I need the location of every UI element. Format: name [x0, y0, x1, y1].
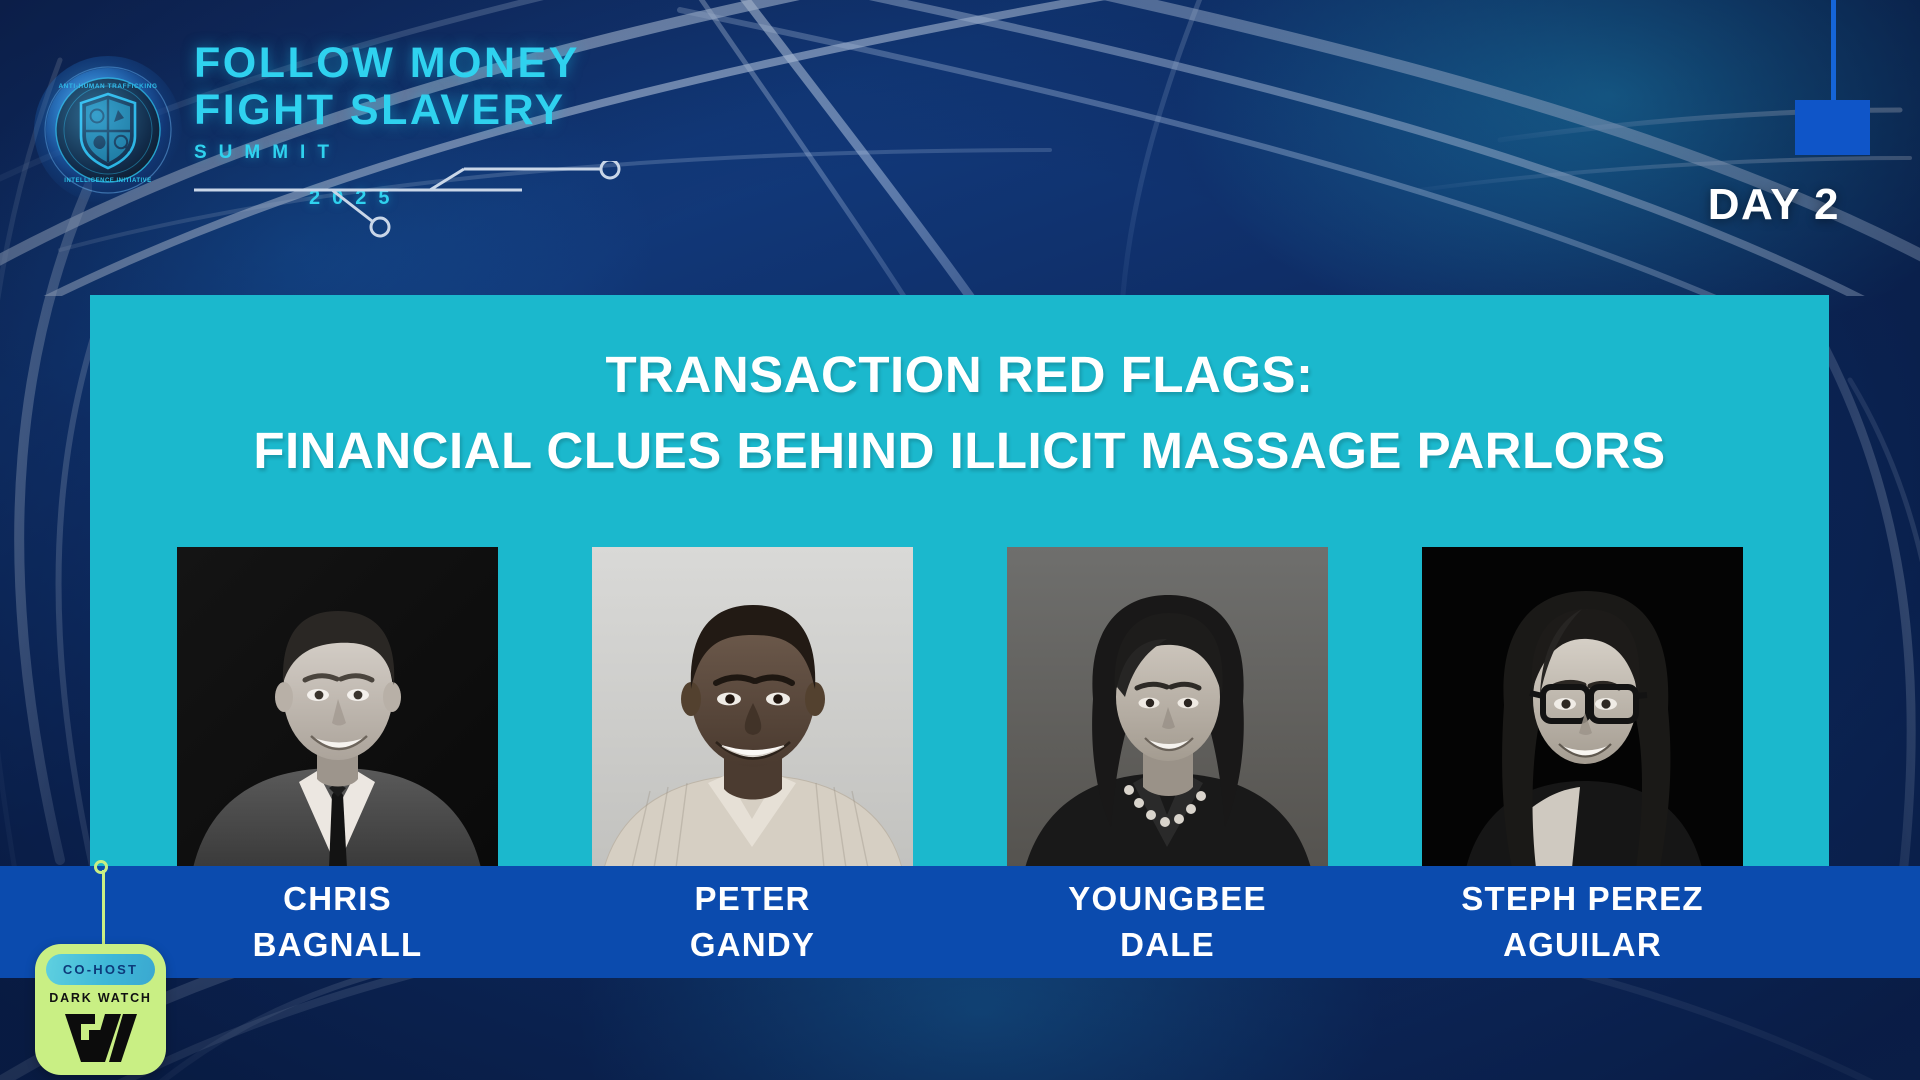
- speaker-first-name-4: STEPH PEREZ: [1422, 876, 1743, 922]
- speaker-name-bar: CHRIS BAGNALL PETER GANDY YOUNGBEE DALE …: [0, 866, 1920, 978]
- steph-perez-aguilar-photo: [1422, 547, 1743, 868]
- logo-timeline-decoration: [192, 161, 632, 239]
- logo-line-fight-slavery: FIGHT SLAVERY: [194, 87, 654, 134]
- speaker-name-row: CHRIS BAGNALL PETER GANDY YOUNGBEE DALE …: [0, 866, 1920, 978]
- session-panel: TRANSACTION RED FLAGS: FINANCIAL CLUES B…: [90, 295, 1829, 868]
- peter-gandy-photo: [592, 547, 913, 868]
- logo-line-follow-money: FOLLOW MONEY: [194, 40, 654, 87]
- cohost-pill-label: CO-HOST: [63, 962, 138, 977]
- hanging-square-ornament: [1795, 100, 1870, 155]
- cohost-knob-icon: [94, 860, 108, 874]
- cohost-card: CO-HOST DARK WATCH: [35, 944, 166, 1075]
- speaker-name-1: CHRIS BAGNALL: [177, 876, 498, 978]
- speaker-name-2: PETER GANDY: [592, 876, 913, 978]
- cohost-stem-line: [102, 870, 105, 948]
- youngbee-dale-photo: [1007, 547, 1328, 868]
- hanging-line-ornament: [1831, 0, 1836, 102]
- speaker-last-name-3: DALE: [1007, 922, 1328, 968]
- speaker-photo-row: [90, 547, 1829, 868]
- dark-watch-logo-icon: [61, 1010, 141, 1066]
- speaker-last-name-1: BAGNALL: [177, 922, 498, 968]
- cohost-badge: CO-HOST DARK WATCH: [18, 860, 178, 1080]
- cohost-pill: CO-HOST: [46, 954, 155, 985]
- presentation-slide: ANTI-HUMAN TRAFFICKING INTELLIGENCE INIT…: [0, 0, 1920, 1080]
- session-title: TRANSACTION RED FLAGS: FINANCIAL CLUES B…: [90, 337, 1829, 489]
- speaker-last-name-4: AGUILAR: [1422, 922, 1743, 968]
- speaker-first-name-2: PETER: [592, 876, 913, 922]
- speaker-last-name-2: GANDY: [592, 922, 913, 968]
- speaker-name-4: STEPH PEREZ AGUILAR: [1422, 876, 1743, 978]
- summit-logo-lockup: ANTI-HUMAN TRAFFICKING INTELLIGENCE INIT…: [34, 40, 654, 230]
- chris-bagnall-photo: [177, 547, 498, 868]
- session-title-line-1: TRANSACTION RED FLAGS:: [90, 337, 1829, 413]
- speaker-first-name-1: CHRIS: [177, 876, 498, 922]
- day-label: DAY 2: [1708, 180, 1840, 230]
- speaker-first-name-3: YOUNGBEE: [1007, 876, 1328, 922]
- anti-human-trafficking-shield-icon: ANTI-HUMAN TRAFFICKING INTELLIGENCE INIT…: [34, 56, 182, 204]
- speaker-name-3: YOUNGBEE DALE: [1007, 876, 1328, 978]
- session-title-line-2: FINANCIAL CLUES BEHIND ILLICIT MASSAGE P…: [90, 413, 1829, 489]
- cohost-org-name: DARK WATCH: [35, 991, 166, 1005]
